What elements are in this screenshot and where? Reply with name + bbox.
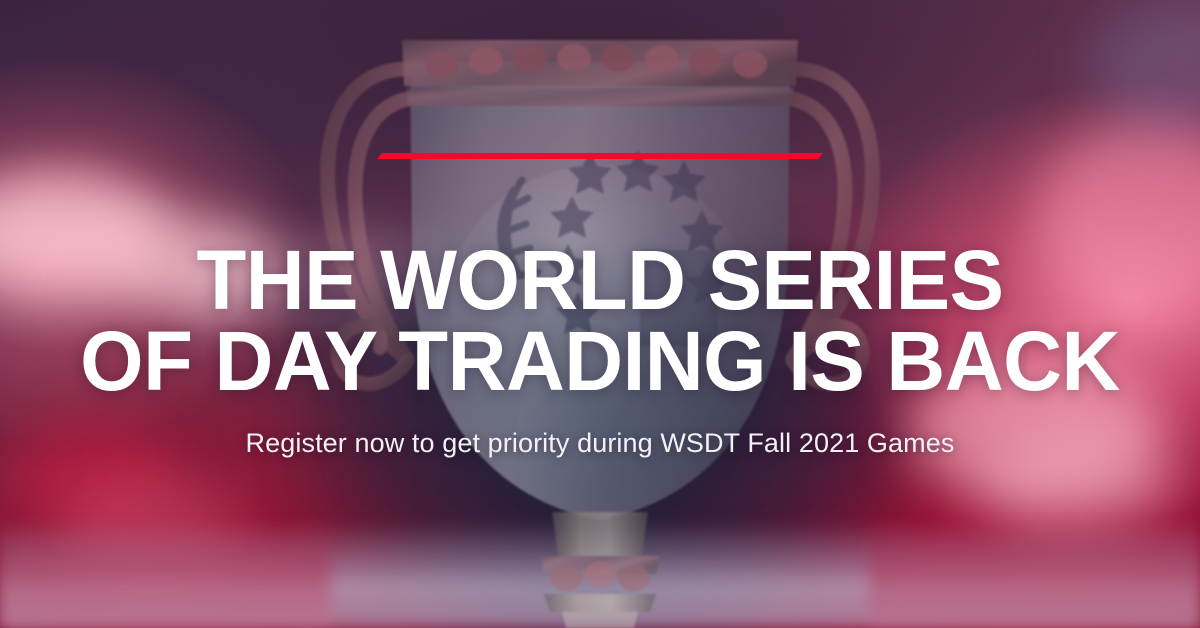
- banner-content: THE WORLD SERIES OF DAY TRADING IS BACK …: [0, 0, 1200, 628]
- page-title: THE WORLD SERIES OF DAY TRADING IS BACK: [18, 240, 1182, 403]
- headline-line-1: THE WORLD SERIES: [18, 240, 1182, 321]
- promo-banner: THE WORLD SERIES OF DAY TRADING IS BACK …: [0, 0, 1200, 628]
- headline-line-2: OF DAY TRADING IS BACK: [18, 321, 1182, 402]
- red-accent-rule: [377, 153, 823, 159]
- subtitle: Register now to get priority during WSDT…: [0, 428, 1200, 459]
